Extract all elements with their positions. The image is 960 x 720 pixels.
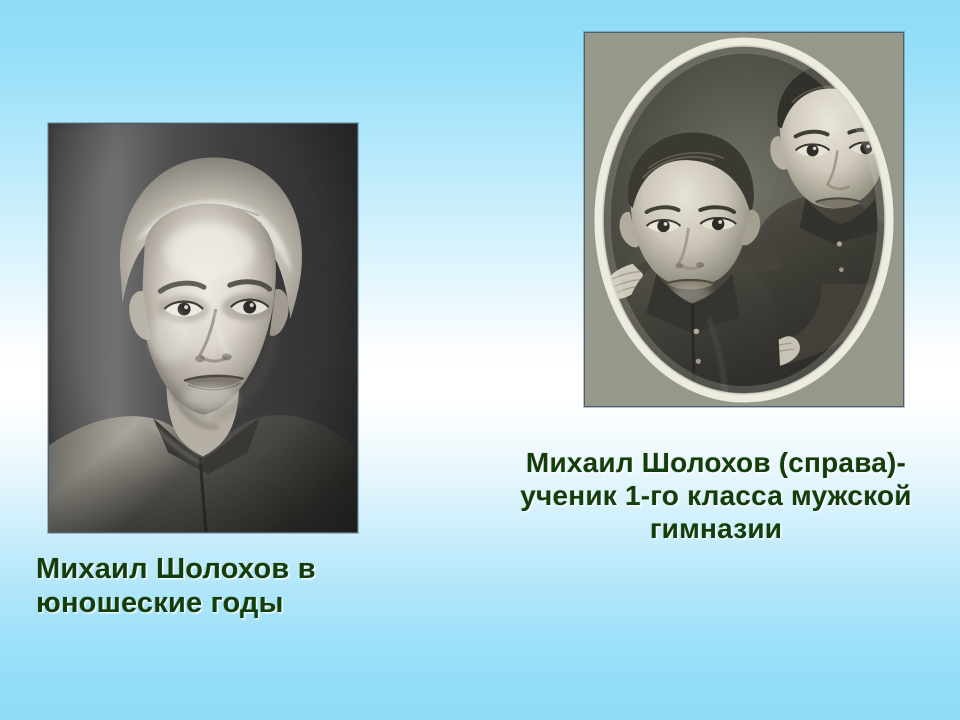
caption-portrait-text: Михаил Шолохов в юношеские годы	[36, 553, 316, 619]
caption-portrait: Михаил Шолохов в юношеские годы	[36, 552, 366, 620]
photo-sholokhov-schoolboys[interactable]	[584, 32, 904, 407]
photo-sholokhov-portrait[interactable]	[48, 123, 358, 533]
caption-schoolboys-line-2: ученик 1-го класса мужской	[487, 479, 945, 512]
schoolboys-illustration	[585, 33, 903, 406]
caption-schoolboys: Михаил Шолохов (справа)- ученик 1-го кла…	[487, 446, 945, 545]
caption-schoolboys-line-1: Михаил Шолохов (справа)-	[487, 446, 945, 479]
slide-canvas: Михаил Шолохов в юношеские годы Михаил Ш…	[0, 0, 960, 720]
caption-schoolboys-line-3: гимназии	[487, 512, 945, 545]
portrait-illustration	[49, 124, 357, 532]
